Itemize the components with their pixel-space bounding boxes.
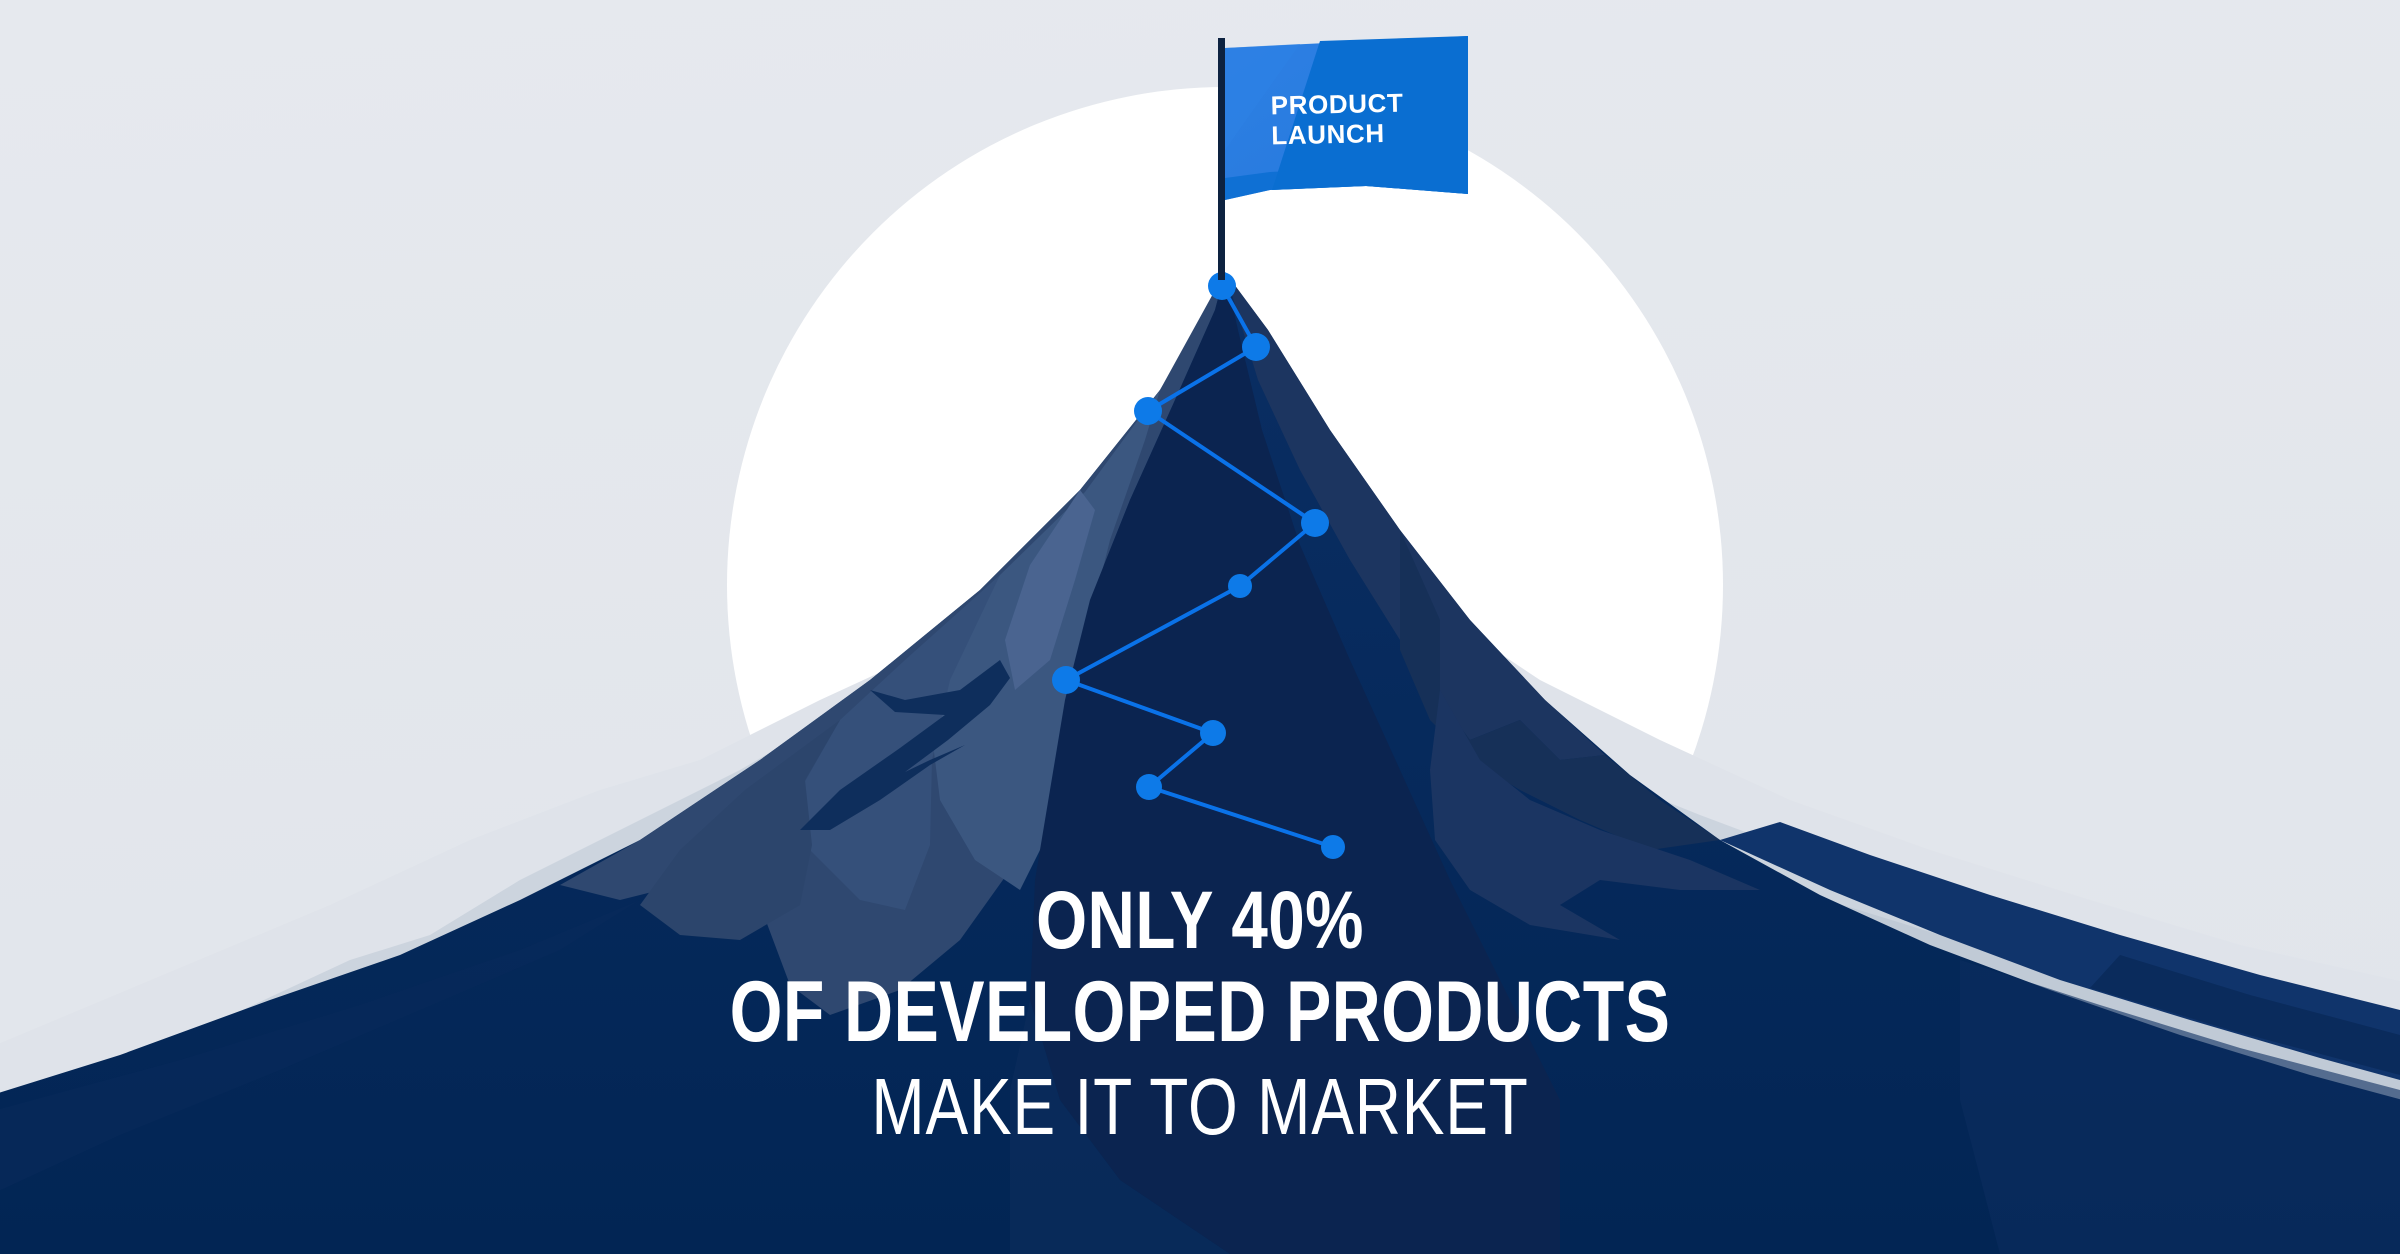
route-node-7[interactable]	[1200, 720, 1226, 746]
route-node-6[interactable]	[1052, 666, 1080, 694]
poster-canvas: PRODUCT LAUNCH ONLY 40% OF DEVELOPED PRO…	[0, 0, 2400, 1254]
flag-pole	[1218, 38, 1225, 280]
route-node-9[interactable]	[1321, 835, 1345, 859]
route-node-5[interactable]	[1228, 574, 1252, 598]
route-node-3[interactable]	[1134, 397, 1162, 425]
route-node-8[interactable]	[1136, 774, 1162, 800]
mountain-illustration	[0, 0, 2400, 1254]
route-node-2[interactable]	[1242, 333, 1270, 361]
route-node-4[interactable]	[1301, 509, 1329, 537]
